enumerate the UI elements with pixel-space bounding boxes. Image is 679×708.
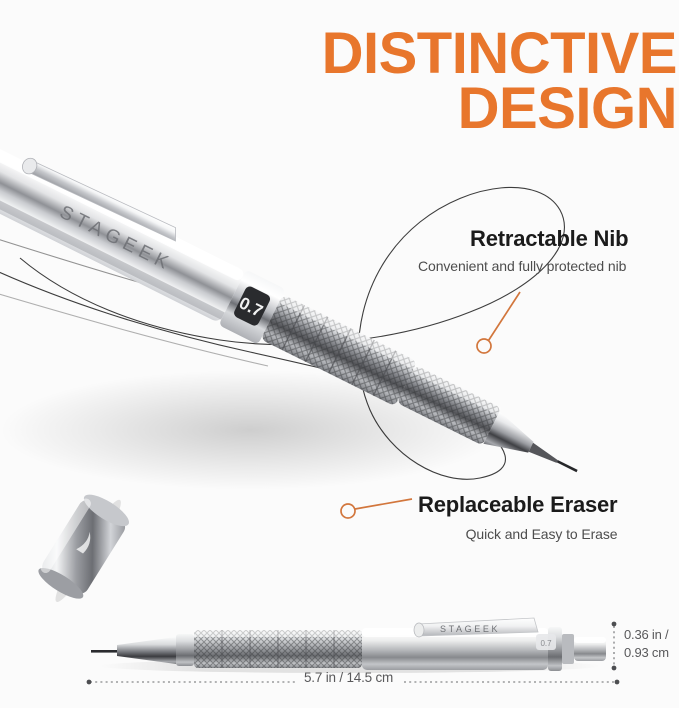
diameter-inches: 0.36 in / <box>624 626 669 644</box>
diameter-dimension-label: 0.36 in / 0.93 cm <box>624 626 669 661</box>
product-infographic: STAGEEK 0.7 <box>0 0 679 708</box>
dimension-lines <box>0 0 679 708</box>
length-dimension-label: 5.7 in / 14.5 cm <box>304 670 393 685</box>
diameter-centimeters: 0.93 cm <box>624 644 669 662</box>
